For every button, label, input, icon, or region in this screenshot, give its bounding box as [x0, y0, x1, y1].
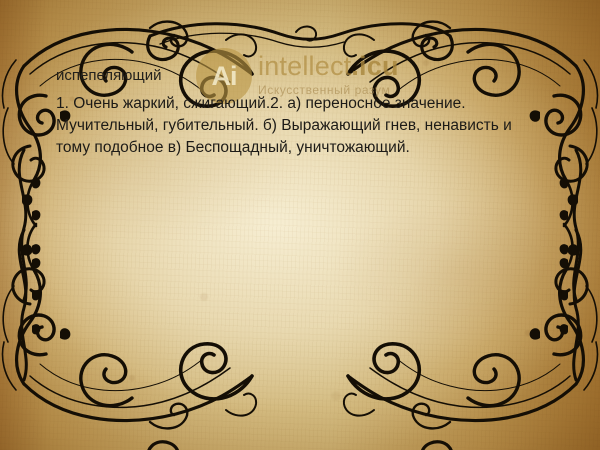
- bottom-border-ornament: [148, 442, 453, 450]
- entry-content: испепеляющий 1. Очень жаркий, сжигающий.…: [56, 66, 556, 159]
- entry-definition: 1. Очень жаркий, сжигающий.2. а) перенос…: [56, 93, 548, 159]
- right-border-ornament: [560, 150, 581, 380]
- entry-headword: испепеляющий: [56, 66, 556, 86]
- bottom-right-corner-ornament: [344, 224, 598, 428]
- parchment-card: Ai intellect.icu Искусственный разум исп…: [0, 0, 600, 450]
- top-border-ornament: [148, 24, 453, 60]
- bottom-left-corner-ornament: [3, 224, 257, 428]
- left-border-ornament: [19, 150, 40, 380]
